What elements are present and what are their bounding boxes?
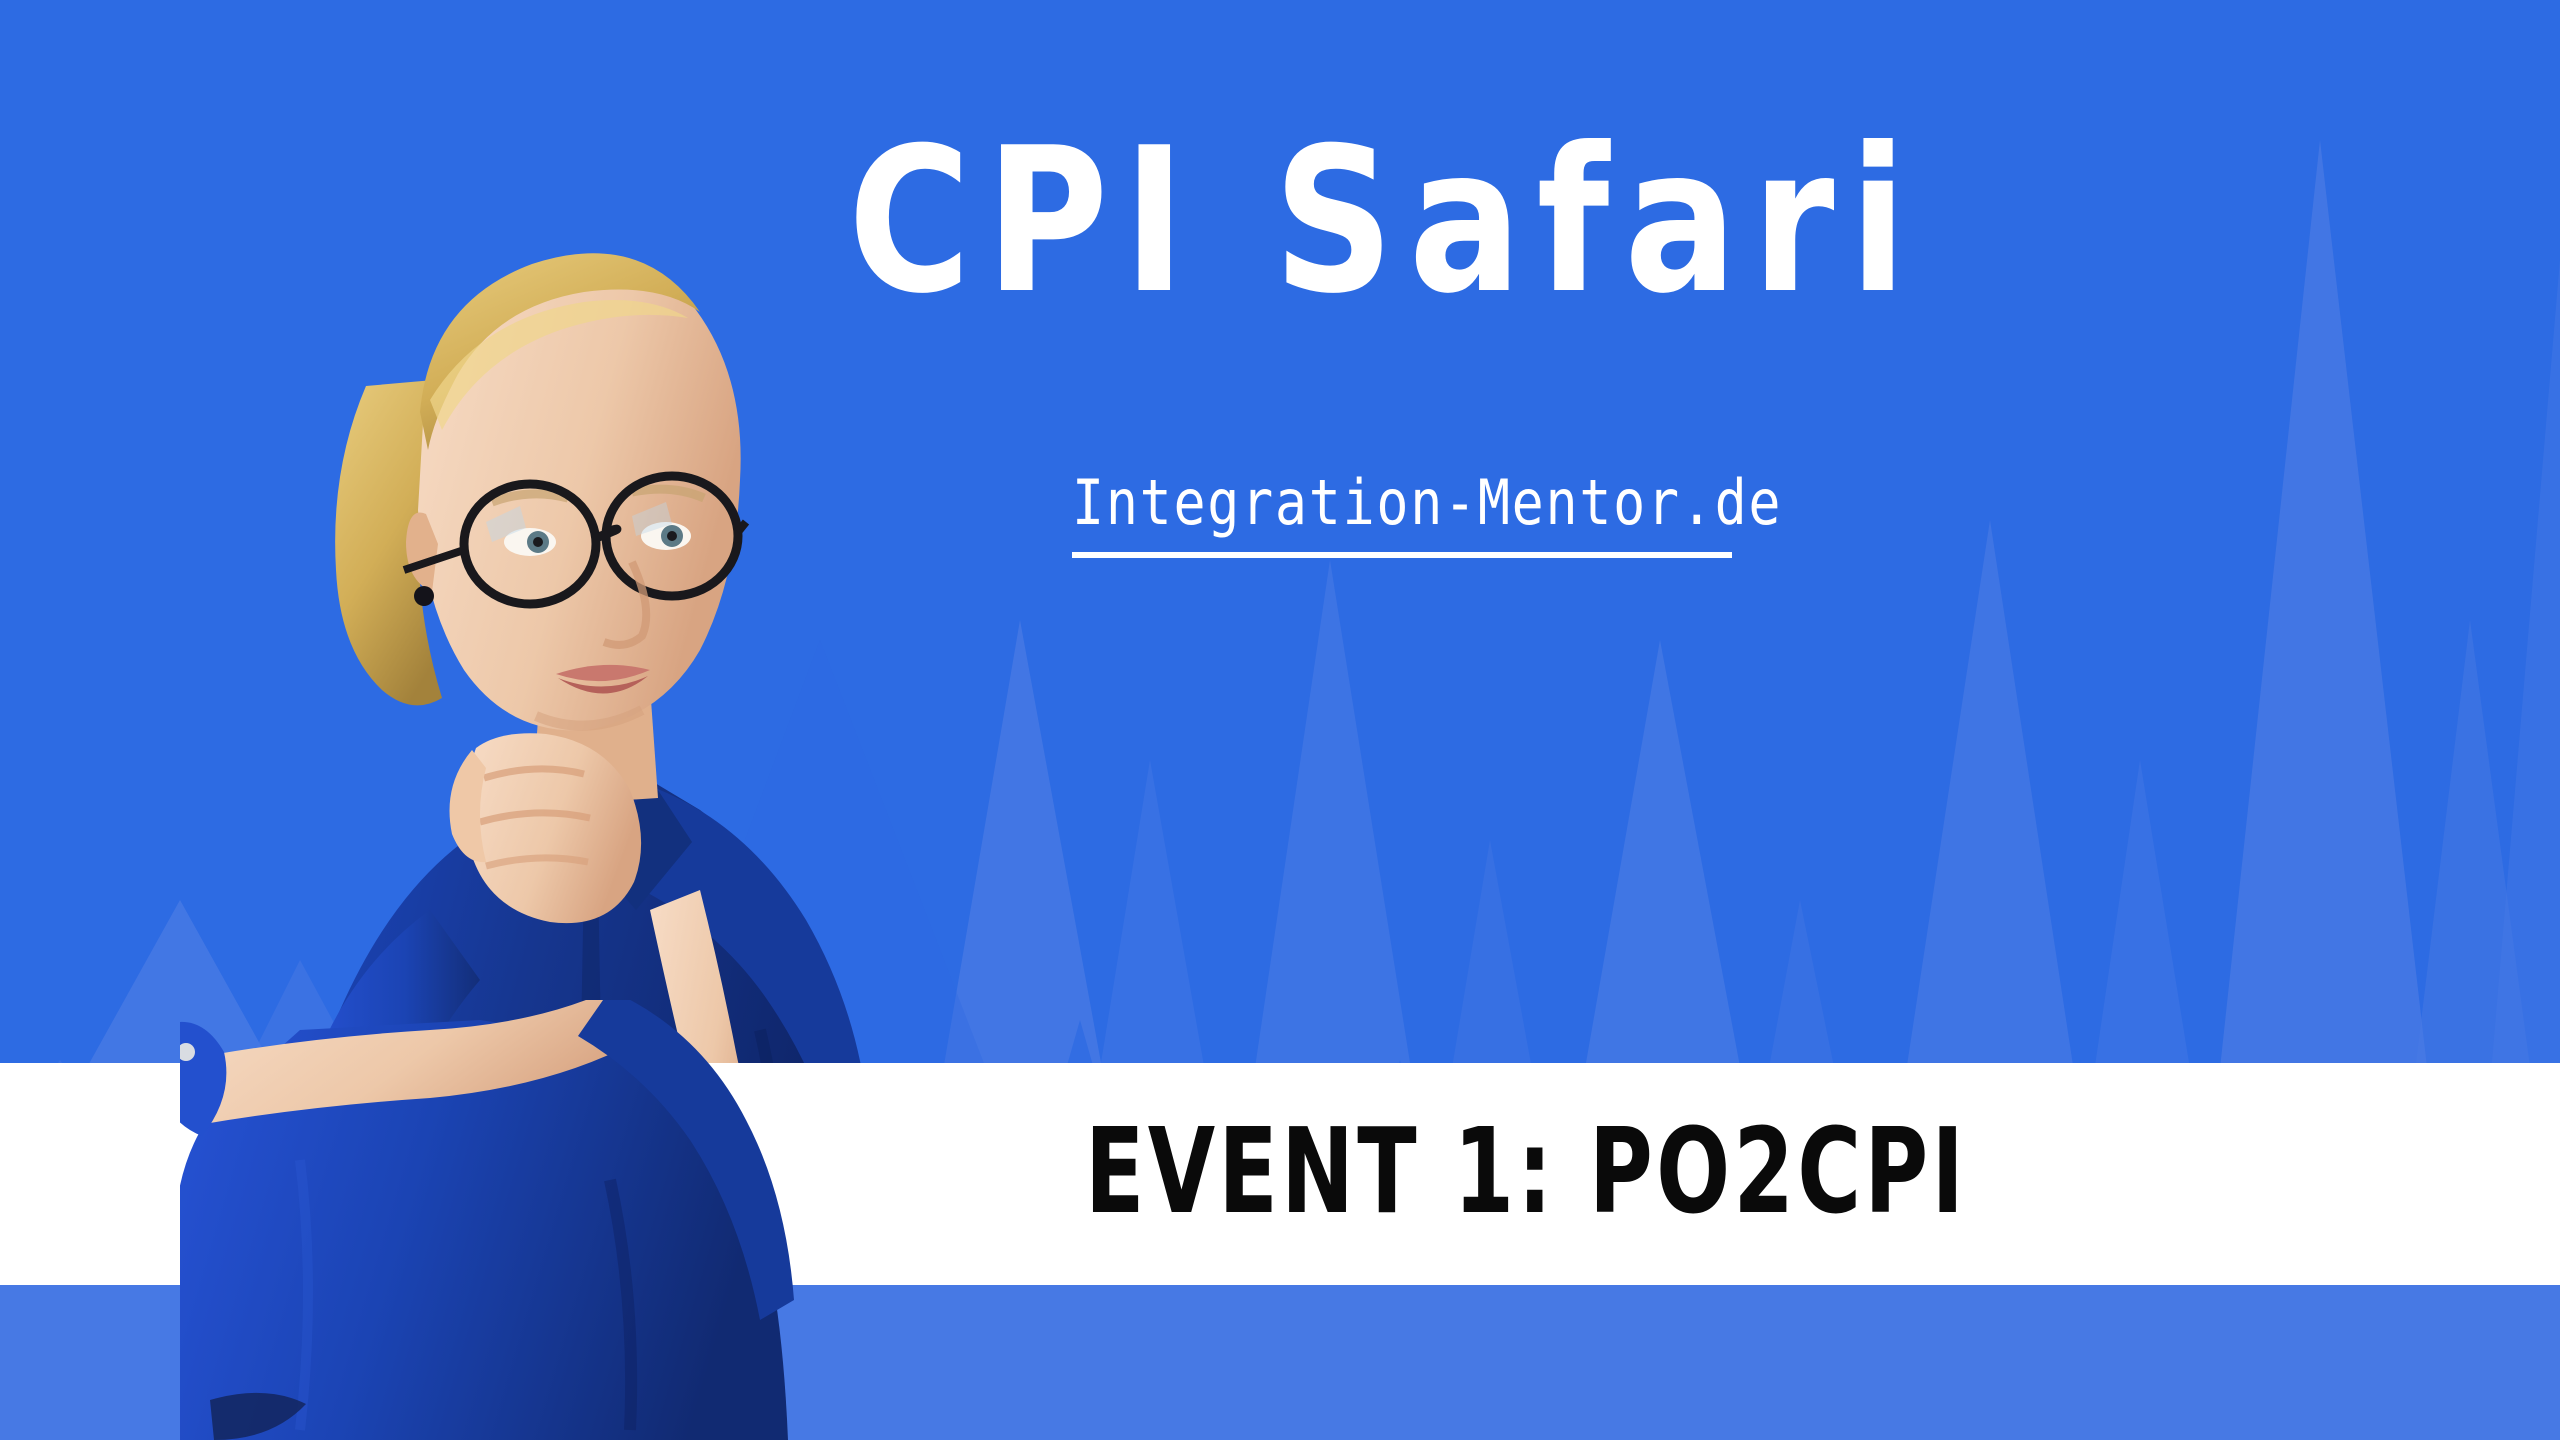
slide-canvas: CPI Safari Integration-Mentor.de EVENT 1… <box>0 0 2560 1440</box>
earring-icon <box>414 586 434 606</box>
site-link-label: Integration-Mentor.de <box>1072 470 2190 535</box>
presenter-portrait-overlay <box>180 1000 1000 1440</box>
event-label: EVENT 1: PO2CPI <box>1085 1112 1967 1230</box>
page-title: CPI Safari <box>848 122 2243 322</box>
site-link-underline <box>1072 552 1732 558</box>
site-link[interactable]: Integration-Mentor.de <box>1072 470 2372 535</box>
